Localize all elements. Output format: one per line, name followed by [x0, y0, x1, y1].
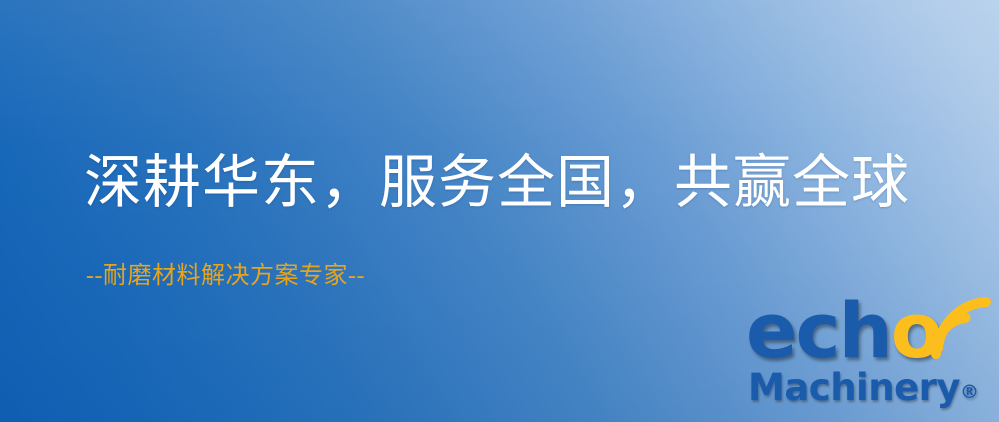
registered-trademark-mark: ® — [960, 381, 979, 403]
hero-banner: 深耕华东，服务全国，共赢全球 --耐磨材料解决方案专家-- echo Machi… — [0, 0, 999, 422]
signal-arcs-icon — [928, 294, 992, 360]
company-logo[interactable]: echo Machinery® — [742, 292, 994, 418]
logo-wordmark-prefix: ech — [746, 286, 891, 375]
logo-tagline: Machinery® — [748, 368, 979, 412]
logo-wordmark: echo — [746, 292, 941, 370]
banner-headline: 深耕华东，服务全国，共赢全球 — [84, 154, 910, 212]
banner-subheadline: --耐磨材料解决方案专家-- — [86, 264, 365, 288]
logo-tagline-text: Machinery — [748, 366, 960, 409]
